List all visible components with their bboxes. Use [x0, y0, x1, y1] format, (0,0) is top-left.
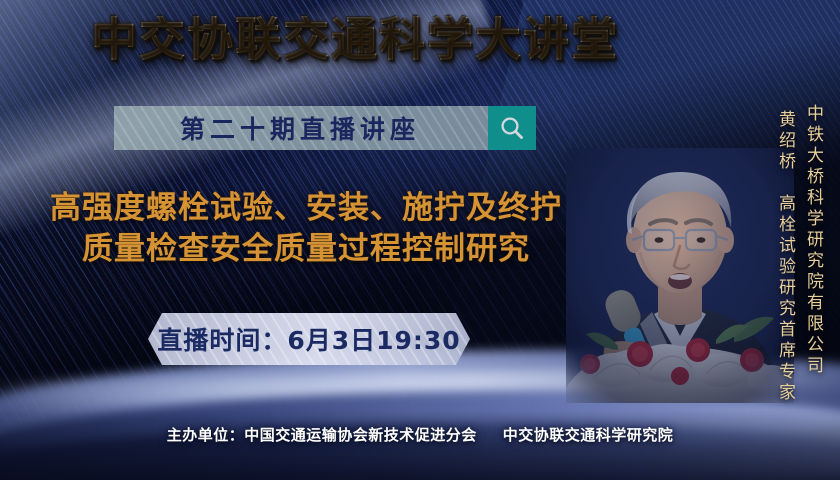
speaker-name-and-role: 黄绍桥 高栓试验研究首席专家 — [773, 110, 798, 404]
live-lecture-poster: 中交协联交通科学大讲堂 第二十期直播讲座 高强度螺栓试验、安装、施拧及终拧 质量… — [0, 0, 840, 480]
episode-label: 第二十期直播讲座 — [180, 110, 422, 146]
topic-line-2: 质量检查安全质量过程控制研究 — [8, 229, 604, 270]
speaker-photo — [566, 148, 794, 403]
topic-line-1: 高强度螺栓试验、安装、施拧及终拧 — [50, 190, 562, 226]
episode-bar: 第二十期直播讲座 — [114, 106, 536, 150]
footer-org-1: 中国交通运输协会新技术促进分会 — [244, 426, 477, 444]
footer-prefix: 主办单位： — [167, 426, 245, 444]
broadcast-time-label: 直播时间：6月3日19:30 — [157, 321, 460, 357]
lecture-topic: 高强度螺栓试验、安装、施拧及终拧 质量检查安全质量过程控制研究 — [8, 188, 604, 270]
episode-bar-body: 第二十期直播讲座 — [114, 106, 488, 150]
search-icon[interactable] — [488, 106, 536, 150]
footer-organizers: 主办单位：中国交通运输协会新技术促进分会中交协联交通科学研究院 — [0, 424, 840, 445]
page-title: 中交协联交通科学大讲堂 — [0, 16, 710, 62]
bottom-dark-vignette — [0, 410, 840, 480]
footer-org-2: 中交协联交通科学研究院 — [503, 426, 674, 444]
broadcast-time-badge: 直播时间：6月3日19:30 — [148, 313, 470, 365]
speaker-organization: 中铁大桥科学研究院有限公司 — [801, 104, 826, 377]
